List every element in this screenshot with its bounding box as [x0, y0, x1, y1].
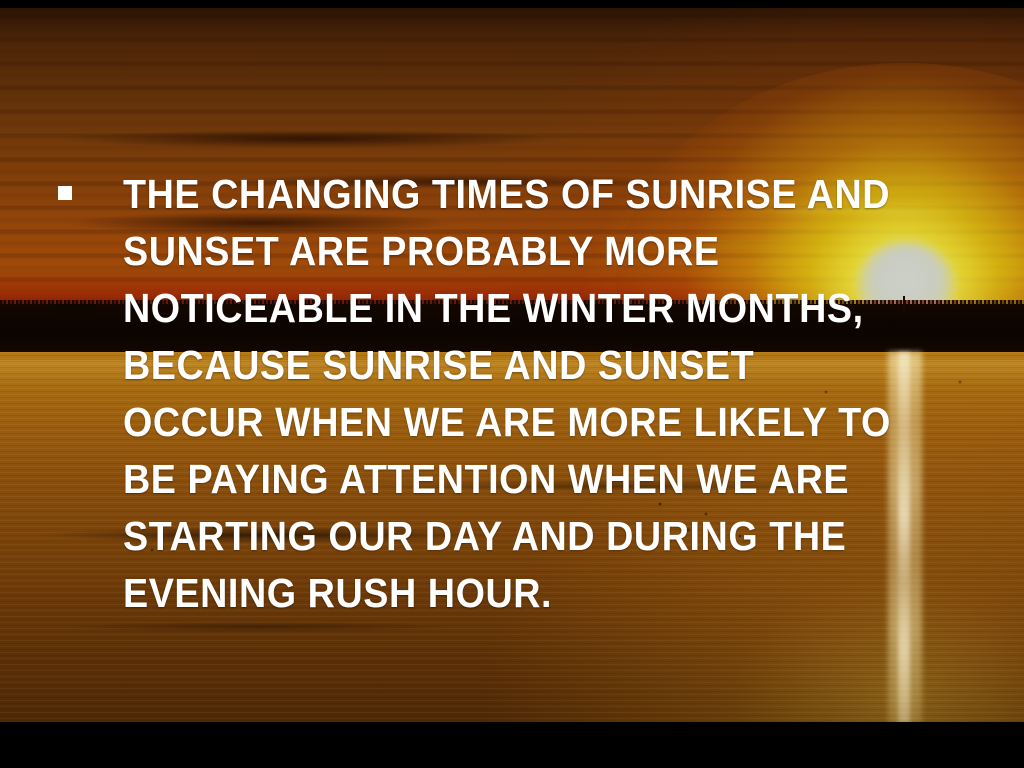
slide-content: The changing times of sunrise and sunset… [0, 0, 1024, 768]
square-bullet-icon [58, 186, 72, 200]
presentation-slide: The changing times of sunrise and sunset… [0, 0, 1024, 768]
slide-body-text: The changing times of sunrise and sunset… [123, 166, 891, 622]
bullet-list-item: The changing times of sunrise and sunset… [58, 166, 958, 622]
